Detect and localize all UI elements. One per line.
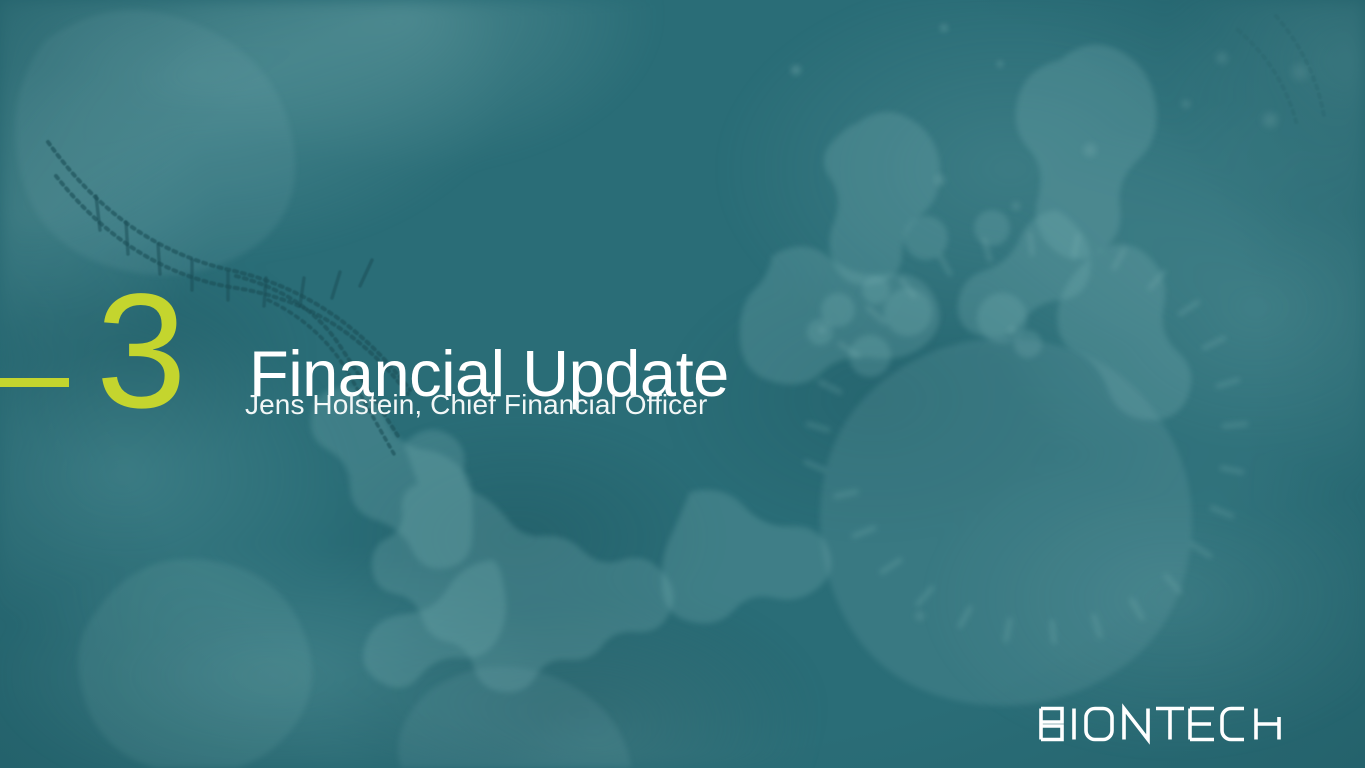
section-number: 3	[96, 269, 185, 432]
presentation-slide: 3 Financial Update Jens Holstein, Chief …	[0, 0, 1365, 768]
biontech-logo: BIONTECH	[1038, 703, 1302, 745]
presenter-byline: Jens Holstein, Chief Financial Officer	[245, 388, 707, 422]
slide-content: 3 Financial Update Jens Holstein, Chief …	[0, 0, 1365, 768]
section-accent-dash	[0, 378, 69, 387]
